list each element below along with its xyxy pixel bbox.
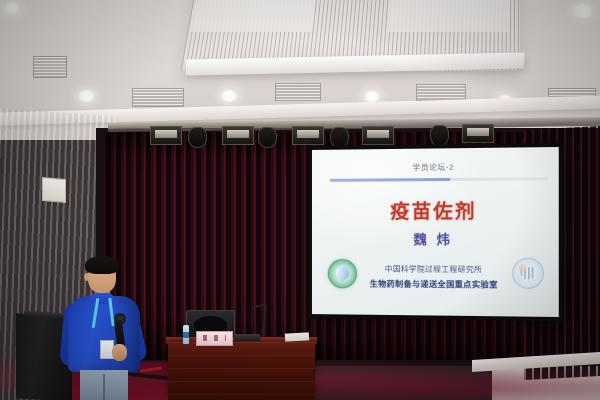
slide-divider-rule: [330, 177, 548, 182]
projection-screen: 学员论坛-2 疫苗佐剂 魏 炜 中国科学院过程工程研究所 生物药制备与递送全国重…: [312, 147, 559, 317]
presenter-hair: [85, 256, 119, 274]
downlight-6: [573, 4, 593, 18]
slide-title: 疫苗佐剂: [312, 196, 559, 224]
projection-screen-frame: 学员论坛-2 疫苗佐剂 魏 炜 中国科学院过程工程研究所 生物药制备与递送全国重…: [308, 143, 563, 321]
stage-light-7: [362, 126, 394, 145]
ceiling-vent-4: [416, 84, 466, 101]
slide-laboratory: 生物药制备与递送全国重点实验室: [312, 278, 559, 291]
stage-light-9: [462, 124, 494, 143]
presenter: [60, 258, 152, 400]
podium-device: [234, 334, 260, 341]
presenter-hand: [112, 344, 127, 361]
stage-light-1: [150, 126, 182, 145]
podium-nameplate: [196, 331, 233, 346]
stage-light-3: [222, 126, 254, 145]
downlight-1: [4, 2, 21, 14]
stage-light-4: [258, 127, 277, 148]
stage-light-8: [430, 125, 449, 146]
presenter-sweater: [68, 296, 140, 372]
podium-wood-grain: [168, 342, 315, 400]
stage-light-5: [292, 126, 324, 145]
podium-papers: [285, 332, 309, 341]
slide-header-label: 学员论坛-2: [312, 160, 559, 173]
downlight-2: [78, 90, 95, 102]
wall-plate-1: [42, 177, 66, 203]
podium: [168, 342, 315, 400]
downlight-3: [221, 90, 237, 102]
coffer-light-panel-left: [192, 0, 320, 32]
ceiling-vent-3: [275, 83, 321, 101]
coffer-light-panel-right: [389, 0, 510, 32]
slide-author-name: 魏 炜: [312, 229, 559, 249]
presenter-jeans-seam: [103, 374, 105, 400]
stage-light-2: [188, 127, 207, 148]
water-bottle: [183, 325, 189, 344]
ceiling-vent-1: [33, 56, 67, 78]
lecture-hall-photo: 学员论坛-2 疫苗佐剂 魏 炜 中国科学院过程工程研究所 生物药制备与递送全国重…: [0, 0, 600, 400]
slide-organization: 中国科学院过程工程研究所: [312, 263, 559, 276]
downlight-4: [364, 91, 380, 102]
ceiling-vent-2: [132, 88, 184, 107]
presenter-ear: [84, 273, 89, 281]
